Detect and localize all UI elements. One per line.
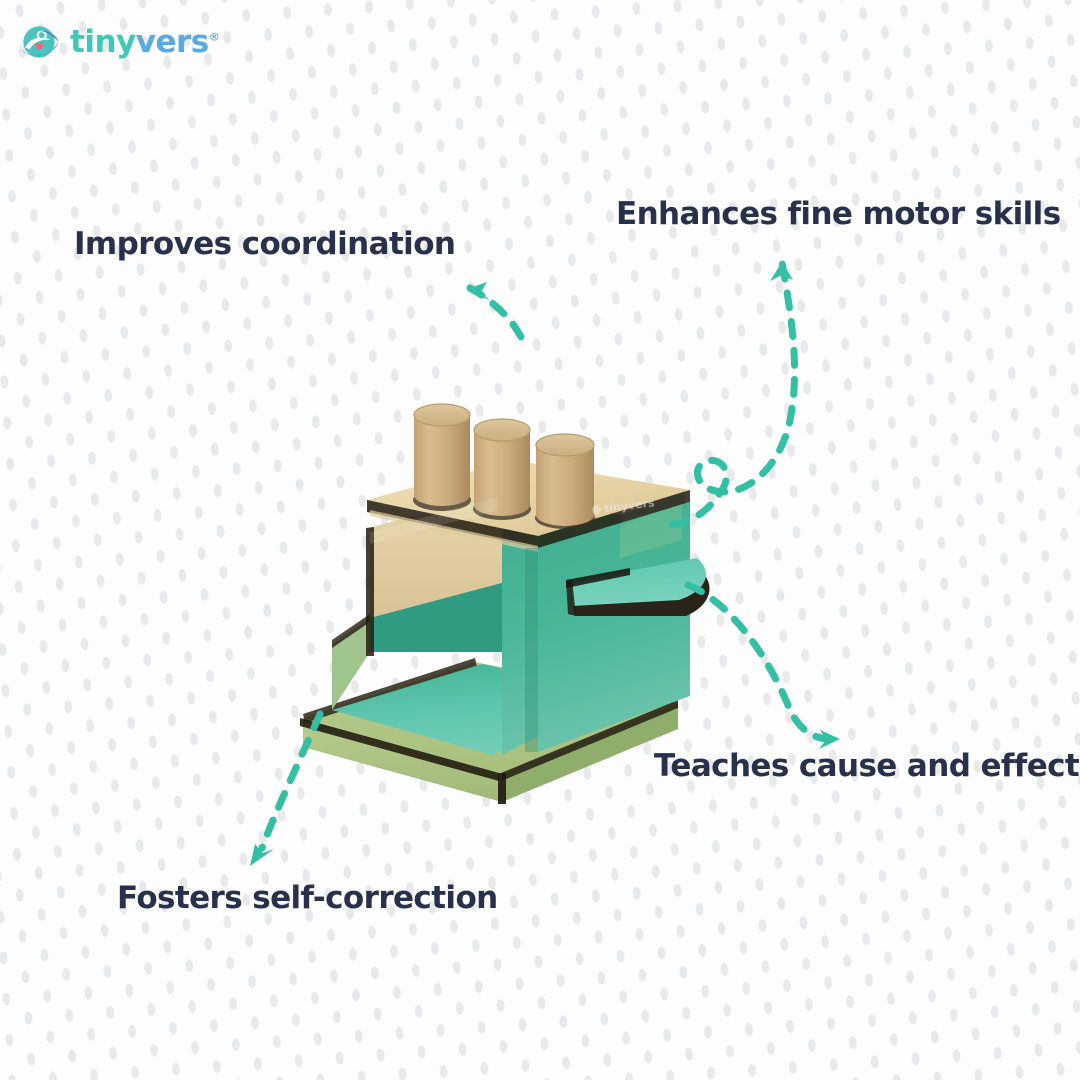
benefit-label-enhances-fine-motor-skills: Enhances fine motor skills [616,196,1061,232]
infographic-canvas: tinyvers® [0,0,1080,1080]
watermark-logo-icon [592,505,602,515]
benefit-label-teaches-cause-and-effect: Teaches cause and effect [654,748,1079,784]
brand-name-part1: tiny [70,24,136,60]
benefit-label-improves-coordination: Improves coordination [74,226,455,262]
brand-name-part2: vers [136,24,209,60]
brand-logo[interactable]: tinyvers® [16,16,219,68]
brand-wordmark: tinyvers® [70,27,219,58]
registered-trademark-symbol: ® [209,30,220,43]
benefit-label-fosters-self-correction: Fosters self-correction [117,880,498,916]
tinyvers-baby-emblem-icon [16,19,62,65]
